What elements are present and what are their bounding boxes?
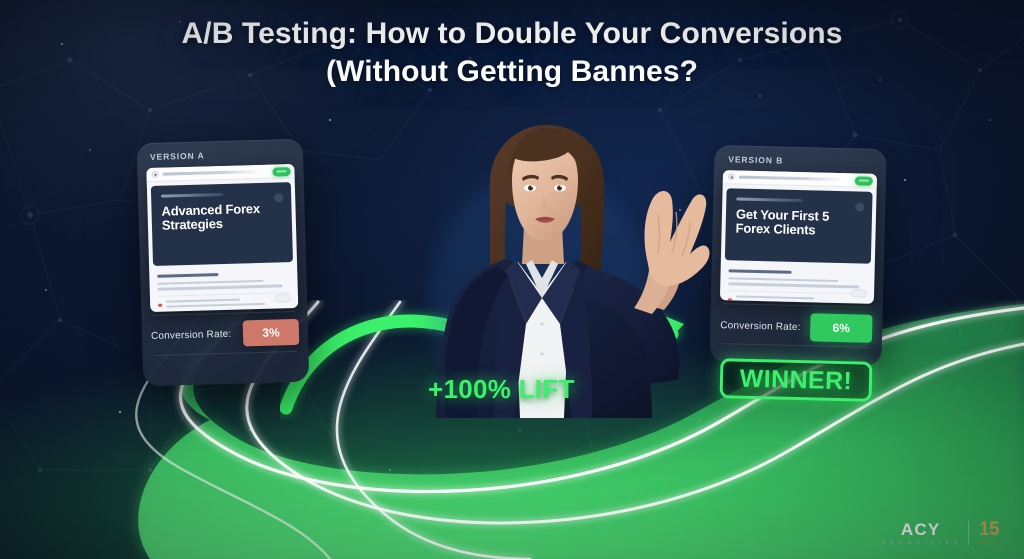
mock-alert-row (720, 295, 874, 304)
version-a-headline: Advanced Forex Strategies (161, 201, 282, 234)
mock-url-text (739, 176, 872, 182)
mock-browser-bar (146, 164, 294, 182)
logo-divider (968, 521, 969, 545)
mock-alert-text (166, 297, 291, 310)
mock-alert-text (735, 295, 866, 304)
acy-wordmark: ACY (901, 521, 941, 538)
green-pill-badge[interactable] (855, 176, 873, 185)
conversion-rate-label: Conversion Rate: (720, 320, 810, 333)
mock-divider (158, 292, 290, 297)
mock-kicker-line (736, 197, 802, 201)
red-alert-square-icon (158, 304, 162, 308)
mock-divider (728, 290, 866, 294)
panel-divider (722, 343, 870, 348)
conversion-rate-label: Conversion Rate: (151, 328, 243, 342)
title-line-2: (Without Getting Bannes? (0, 53, 1024, 91)
mock-cta-button[interactable] (275, 294, 291, 302)
subject-businesswoman (390, 118, 720, 418)
mock-text-line (728, 277, 838, 282)
mock-body (149, 266, 298, 297)
hero-avatar-dot (274, 193, 283, 202)
page-title: A/B Testing: How to Double Your Conversi… (0, 15, 1024, 92)
panel-divider (723, 303, 871, 308)
version-a-panel[interactable]: VERSION A Advanced Forex Strategies (137, 139, 310, 387)
panel-divider (153, 311, 295, 316)
mock-url-text (162, 169, 289, 176)
lift-label: +100% LIFT (428, 374, 575, 405)
version-b-conversion-row: Conversion Rate: 6% (710, 311, 883, 343)
anniversary-number: 15 (979, 520, 999, 539)
red-alert-square-icon (728, 298, 732, 302)
hero-avatar-dot (855, 202, 864, 211)
mock-text-line (728, 283, 859, 289)
mock-kicker-line (161, 193, 223, 197)
mock-cta-button[interactable] (851, 289, 867, 297)
acy-logo: ACY S E C U R I T I E S (882, 521, 959, 545)
version-a-mock-page[interactable]: Advanced Forex Strategies (146, 164, 298, 312)
mock-subhead-line (729, 269, 793, 274)
mock-text-line (158, 280, 264, 285)
panel-divider (155, 351, 297, 356)
mock-hero: Get Your First 5 Forex Clients (725, 188, 873, 264)
version-b-headline: Get Your First 5 Forex Clients (735, 207, 862, 240)
version-a-conversion-badge: 3% (243, 319, 300, 347)
poster-canvas: VERSION A Advanced Forex Strategies (0, 0, 1024, 559)
version-b-panel[interactable]: VERSION B Get Your First 5 Forex Clients (709, 145, 886, 366)
brand-logo[interactable]: ACY S E C U R I T I E S 15 YEARS (882, 520, 1000, 545)
version-a-label: VERSION A (150, 150, 205, 162)
anniversary-badge: 15 YEARS (978, 520, 1000, 545)
mock-subhead-line (157, 273, 218, 278)
mock-text-line (158, 285, 283, 291)
site-favicon-icon (151, 171, 158, 178)
version-b-mock-page[interactable]: Get Your First 5 Forex Clients (720, 170, 877, 304)
anniversary-years-label: YEARS (978, 540, 1000, 545)
version-b-label: VERSION B (728, 154, 783, 165)
winner-badge: WINNER! (720, 358, 873, 402)
green-pill-badge[interactable] (272, 167, 290, 176)
site-favicon-icon (728, 173, 735, 180)
title-line-1: A/B Testing: How to Double Your Conversi… (182, 17, 843, 50)
mock-browser-bar (723, 170, 877, 188)
mock-hero: Advanced Forex Strategies (151, 182, 293, 266)
raised-hand-icon (645, 191, 710, 286)
version-b-conversion-badge: 6% (810, 313, 873, 343)
version-a-conversion-row: Conversion Rate: 3% (142, 319, 309, 350)
acy-tagline: S E C U R I T I E S (882, 540, 959, 545)
